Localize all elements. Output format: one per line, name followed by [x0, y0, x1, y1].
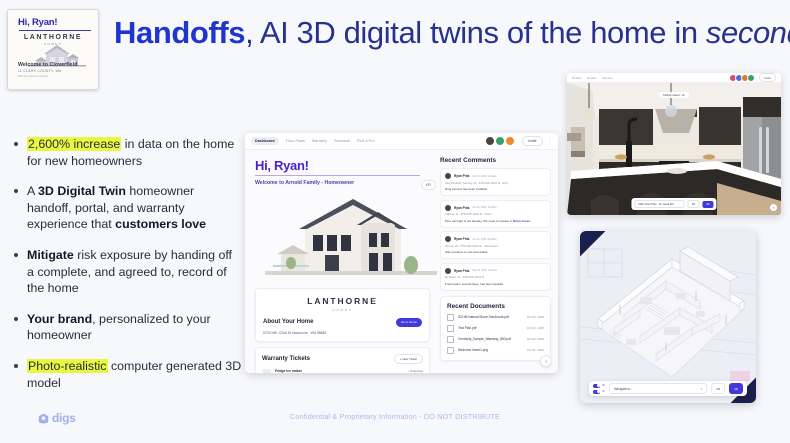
home-address: 5703 NW 123rd St Vancouver , WA 98685	[263, 331, 422, 335]
comment-meta: Ring Doorbell / Security, 1F · 5703 NW 1…	[445, 182, 546, 185]
bullet-list: 2,600% increase in data on the home for …	[14, 136, 242, 405]
ticket-name: Fridge Ice maker	[275, 369, 405, 373]
title-middle: , AI 3D digital twins of the home in	[245, 15, 706, 50]
comment-body-text: Fresh paint, second layer, has been appl…	[445, 282, 503, 286]
bullet-dot-icon	[14, 364, 18, 368]
warranty-title: Warranty Tickets	[262, 356, 310, 362]
file-icon	[447, 336, 454, 343]
comment-date: Oct 02, 2025, 16:05pm	[472, 206, 496, 209]
portal-tab-schedule[interactable]: Schedule	[334, 139, 350, 143]
invite-button[interactable]: Invite	[522, 136, 542, 146]
bullet-dot-icon	[14, 317, 18, 321]
comment-body: Ring camera has been installed	[445, 187, 546, 191]
kitchen-tab[interactable]: Details	[572, 76, 581, 80]
avatar	[495, 136, 505, 146]
file-icon	[447, 314, 454, 321]
comment-header: Ryan PinkOct 02, 2025, 16:05pm	[445, 205, 546, 211]
bullet-text: Your brand, personalized to your homeown…	[27, 311, 242, 344]
comment-author: Ryan Pink	[454, 206, 469, 210]
avatar	[747, 74, 755, 82]
recent-comments-list: Ryan PinkOct 03, 2025, 10:18amRing Doorb…	[440, 168, 551, 291]
bullet-text-part: 2,600% increase	[27, 137, 121, 151]
thumbnail-footer: Welcome to Cloverfield 11 CLARK COUNTY, …	[18, 62, 77, 78]
avatar	[445, 205, 451, 211]
comment-item[interactable]: Ryan PinkOct 01, 2025, 09:30amPrimary, 2…	[440, 231, 551, 259]
ticket-status-badge: • Scheduled	[408, 369, 423, 373]
ticket-thumbnail	[262, 369, 271, 373]
comment-body: Pine can light is out already, We need t…	[445, 219, 546, 223]
portal-tab-find-a-pro[interactable]: Find a Pro	[357, 139, 375, 143]
bullet-dot-icon	[14, 189, 18, 193]
bullet-dot-icon	[14, 142, 18, 146]
comment-date: Oct 03, 2025, 10:18am	[472, 175, 496, 178]
portal-side-column: Recent Comments Ryan PinkOct 03, 2025, 1…	[438, 150, 558, 373]
warranty-ticket-row[interactable]: Fridge Ice makerLast Activity: Oct 03, 2…	[262, 369, 423, 373]
kitchen-floorplan-select[interactable]: Main Floor Plan - 1F Great Rm	[634, 200, 684, 208]
warranty-rows: Fridge Ice makerLast Activity: Oct 03, 2…	[262, 369, 423, 373]
portal-top-bar: DashboardFloor PlansWarrantyScheduleFind…	[245, 133, 558, 150]
bullet-item: A 3D Digital Twin homeowner handoff, por…	[14, 183, 242, 233]
comment-meta: Lighting, 1F · 5703 NW 123rd St · Stairs	[445, 213, 546, 216]
comment-body-text: Attic entrance is now accessible	[445, 250, 488, 254]
portal-welcome-text: Welcome to Arnold Family - Homeowner	[255, 180, 360, 188]
bullet-text-part: customers love	[115, 217, 206, 231]
bullet-text: Photo-realistic computer generated 3D mo…	[27, 358, 242, 391]
comment-header: Ryan PinkOct 01, 2025, 09:30am	[445, 236, 546, 242]
comment-item[interactable]: Ryan PinkOct 03, 2025, 10:18amRing Doorb…	[440, 168, 551, 196]
document-row[interactable]: SCHM Natural Stone Disclosure.pdfOct 02,…	[447, 314, 544, 321]
comment-body-text: Pine can light is out already, We need t…	[445, 219, 512, 223]
bullet-item: Mitigate risk exposure by handing off a …	[14, 247, 242, 297]
floorplan-2d-button[interactable]: 2D	[711, 383, 725, 394]
avatar	[445, 236, 451, 242]
floorplan-3d-model	[580, 231, 756, 403]
kitchen-bottom-toolbar[interactable]: Main Floor Plan - 1F Great Rm 2D 3D	[631, 198, 716, 210]
brand-card: LANTHORNE HOMES About Your Home Go to Ho…	[255, 288, 430, 342]
kitchen-scene	[567, 83, 781, 215]
comment-body-text: Ring camera has been installed	[445, 187, 487, 191]
about-home-row: About Your Home Go to Home	[263, 318, 422, 327]
more-options-icon[interactable]: ⋮	[548, 138, 553, 144]
portal-tab-dashboard[interactable]: Dashboard	[251, 137, 279, 145]
bullet-item: 2,600% increase in data on the home for …	[14, 136, 242, 169]
portal-tabs: DashboardFloor PlansWarrantyScheduleFind…	[251, 137, 375, 145]
confidential-notice: Confidential & Proprietary Information -…	[0, 412, 790, 421]
thumbnail-brand: LANTHORNE	[12, 34, 94, 41]
avatar	[505, 136, 515, 146]
thumbnail-location: 11 CLARK COUNTY, WA	[18, 69, 77, 73]
help-fab-icon[interactable]: ?	[540, 355, 552, 367]
kitchen-tab[interactable]: Reports	[602, 76, 613, 80]
comment-item[interactable]: Ryan PinkSep 30, 2025, 14:22pmMy Room, 2…	[440, 263, 551, 291]
go-to-home-button[interactable]: Go to Home	[396, 318, 422, 327]
thumbnail-divider	[19, 30, 91, 31]
portal-greeting: Hi, Ryan!	[255, 158, 430, 173]
comment-meta: Primary, 2F · 5703 NW 123rd St · Attic A…	[445, 245, 546, 248]
ticket-info: Fridge Ice makerLast Activity: Oct 03, 2…	[275, 369, 405, 373]
brand-logo-text: LANTHORNE	[263, 296, 422, 306]
floorplan-3d-panel[interactable]: 2D 3F Navigate to... ▾ 2D 3D	[580, 231, 756, 403]
toggle-switch[interactable]	[593, 384, 600, 388]
thumbnail-note: Built by Lanthorne Homes	[18, 75, 77, 78]
toggle-label-1: 2D	[602, 384, 605, 387]
slide-canvas: Hi, Ryan! LANTHORNE HOMES Welcome to Clo…	[0, 0, 790, 443]
comment-item[interactable]: Ryan PinkOct 02, 2025, 16:05pmLighting, …	[440, 200, 551, 228]
comment-body: Fresh paint, second layer, has been appl…	[445, 282, 546, 286]
portal-body: Hi, Ryan! Welcome to Arnold Family - Hom…	[245, 150, 558, 373]
comment-author: Ryan Pink	[454, 237, 469, 241]
navigate-to-select[interactable]: Navigate to... ▾	[609, 383, 707, 394]
slide-title: Handoffs, AI 3D digital twins of the hom…	[114, 16, 782, 51]
recent-documents-title: Recent Documents	[447, 303, 544, 310]
bullet-item: Your brand, personalized to your homeown…	[14, 311, 242, 344]
file-icon	[447, 325, 454, 332]
portal-top-right: Invite ⋮	[485, 136, 552, 146]
floorplan-toolbar[interactable]: 2D 3F Navigate to... ▾ 2D 3D	[589, 381, 747, 396]
brand-logo-sub: HOMES	[263, 308, 422, 312]
navigate-to-value: Navigate to...	[614, 387, 633, 391]
thumbnail-inner: Hi, Ryan! LANTHORNE HOMES Welcome to Clo…	[12, 14, 94, 85]
recent-documents-card: Recent Documents SCHM Natural Stone Disc…	[440, 296, 551, 361]
warranty-header: Warranty Tickets + New Ticket	[262, 354, 423, 364]
warranty-tickets-card: Warranty Tickets + New Ticket Fridge Ice…	[255, 347, 430, 373]
toggle-switch[interactable]	[593, 390, 600, 394]
kitchen-3d-button[interactable]: 3D	[702, 201, 713, 208]
title-bold-word: Handoffs	[114, 15, 245, 50]
kitchen-invite-button[interactable]: Invite	[759, 73, 776, 82]
portal-greeting-divider	[255, 175, 420, 176]
kitchen-render-panel[interactable]: Details Details Reports Invite	[567, 73, 781, 215]
avatar	[485, 136, 495, 146]
about-home-title: About Your Home	[263, 319, 313, 325]
new-ticket-button[interactable]: + New Ticket	[394, 354, 423, 364]
bullet-text-part: Mitigate	[27, 248, 74, 262]
bullet-text-part: 3D Digital Twin	[38, 184, 126, 198]
document-name: SCHM Natural Stone Disclosure.pdf	[458, 315, 509, 319]
thumbnail-welcome: Welcome to Cloverfield	[18, 62, 77, 68]
bullet-item: Photo-realistic computer generated 3D mo…	[14, 358, 242, 391]
avatar	[445, 268, 451, 274]
homeowner-portal-screenshot[interactable]: DashboardFloor PlansWarrantyScheduleFind…	[245, 133, 558, 373]
title-italic-word: seconds	[706, 15, 790, 50]
kitchen-top-bar: Details Details Reports Invite	[567, 73, 781, 83]
portal-kpi-badge[interactable]: KPI	[421, 180, 436, 190]
toggle-label-2: 3F	[602, 390, 605, 393]
portal-main-column: Hi, Ryan! Welcome to Arnold Family - Hom…	[245, 150, 438, 373]
portal-tab-warranty[interactable]: Warranty	[312, 139, 327, 143]
kitchen-help-fab-icon[interactable]: ?	[770, 204, 777, 211]
bullet-text-part: A	[27, 184, 38, 198]
comment-author: Ryan Pink	[454, 269, 469, 273]
bullet-dot-icon	[14, 253, 18, 257]
chevron-down-icon: ▾	[701, 387, 703, 391]
comment-body: Attic entrance is now accessible	[445, 250, 546, 254]
bullet-text: 2,600% increase in data on the home for …	[27, 136, 242, 169]
home-3d-render	[265, 193, 437, 279]
comment-meta: My Room, 2F · 5703 NW 123rd St	[445, 276, 546, 279]
kitchen-top-right: Invite	[731, 73, 776, 82]
document-row[interactable]: Centricity_Sample_Warranty_850.pdfOct 02…	[447, 336, 544, 343]
floorplan-3d-button[interactable]: 3D	[729, 383, 743, 394]
kitchen-2d-button[interactable]: 2D	[688, 200, 699, 208]
comment-header: Ryan PinkSep 30, 2025, 14:22pm	[445, 268, 546, 274]
document-rows: SCHM Natural Stone Disclosure.pdfOct 02,…	[447, 314, 544, 354]
avatar	[445, 173, 451, 179]
document-date: Oct 02, 2025	[527, 337, 544, 341]
bullet-text: A 3D Digital Twin homeowner handoff, por…	[27, 183, 242, 233]
bullet-text-part: Your brand	[27, 312, 92, 326]
document-row[interactable]: Welcome home1.pngOct 01, 2025	[447, 347, 544, 354]
document-date: Oct 02, 2025	[527, 315, 544, 319]
recent-comments-title: Recent Comments	[440, 157, 551, 164]
comment-date: Sep 30, 2025, 14:22pm	[472, 269, 497, 272]
document-name: Test Plan.pdf	[458, 326, 476, 330]
document-date: Oct 01, 2025	[527, 348, 544, 352]
comment-mention[interactable]: Brian Green	[512, 219, 530, 223]
kitchen-room-label: Kitchen Island - 1F	[659, 92, 689, 98]
comment-date: Oct 01, 2025, 09:30am	[472, 238, 496, 241]
document-name: Centricity_Sample_Warranty_850.pdf	[458, 337, 511, 341]
thumbnail-greeting: Hi, Ryan!	[18, 17, 94, 28]
kitchen-tab[interactable]: Details	[587, 76, 596, 80]
bullet-text: Mitigate risk exposure by handing off a …	[27, 247, 242, 297]
document-date: Oct 02, 2025	[527, 326, 544, 330]
portal-tab-floor-plans[interactable]: Floor Plans	[286, 139, 305, 143]
file-icon	[447, 347, 454, 354]
bullet-text-part: Photo-realistic	[27, 359, 108, 373]
kitchen-3d-stage[interactable]: Kitchen Island - 1F Main Floor Plan - 1F…	[567, 83, 781, 215]
document-row[interactable]: Test Plan.pdfOct 02, 2025	[447, 325, 544, 332]
comment-header: Ryan PinkOct 03, 2025, 10:18am	[445, 173, 546, 179]
floorplan-toggles[interactable]: 2D 3F	[593, 384, 605, 394]
comment-author: Ryan Pink	[454, 174, 469, 178]
handoff-card-thumbnail[interactable]: Hi, Ryan! LANTHORNE HOMES Welcome to Clo…	[7, 9, 99, 90]
document-name: Welcome home1.png	[458, 348, 488, 352]
